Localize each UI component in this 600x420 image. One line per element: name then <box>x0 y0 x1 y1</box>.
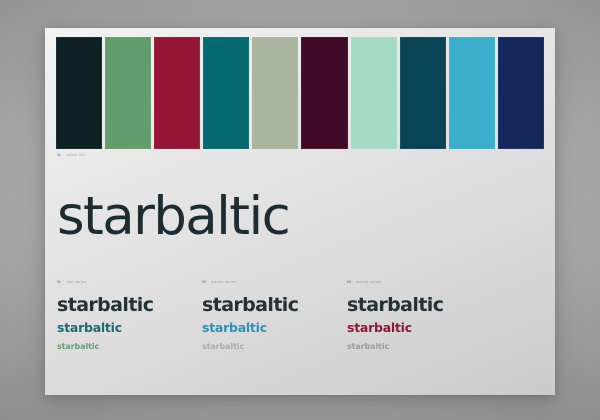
specimen-large-2: starbaltic <box>202 296 352 315</box>
palette-caption-number: 01 <box>57 154 61 157</box>
brand-board: 01 colour mix starbaltic 01 cool series … <box>45 28 555 395</box>
palette-caption-label: colour mix <box>66 154 85 157</box>
specimen-caption-number-1: 01 <box>57 281 61 284</box>
color-swatch-1[interactable] <box>56 37 102 149</box>
color-palette-strip <box>56 37 544 149</box>
specimen-caption-number-2: 02 <box>202 281 206 284</box>
specimen-small-1: starbaltic <box>57 343 207 351</box>
specimen-caption-label-3: accent series <box>356 281 381 284</box>
specimen-caption-label-2: marine series <box>211 281 237 284</box>
type-specimen-column-2: 02 marine series starbaltic starbaltic s… <box>202 281 352 351</box>
color-swatch-5[interactable] <box>252 37 298 149</box>
color-swatch-8[interactable] <box>400 37 446 149</box>
specimen-caption-number-3: 03 <box>347 281 351 284</box>
color-swatch-10[interactable] <box>498 37 544 149</box>
color-swatch-7[interactable] <box>351 37 397 149</box>
specimen-caption-1: 01 cool series <box>57 281 207 284</box>
specimen-large-3: starbaltic <box>347 296 497 315</box>
color-swatch-2[interactable] <box>105 37 151 149</box>
specimen-large-1: starbaltic <box>57 296 207 315</box>
color-swatch-6[interactable] <box>301 37 347 149</box>
color-swatch-9[interactable] <box>449 37 495 149</box>
specimen-medium-1: starbaltic <box>57 322 207 335</box>
specimen-small-3: starbaltic <box>347 343 497 351</box>
specimen-caption-3: 03 accent series <box>347 281 497 284</box>
specimen-medium-2: starbaltic <box>202 322 352 335</box>
hero-wordmark: starbaltic <box>57 190 289 243</box>
specimen-small-2: starbaltic <box>202 343 352 351</box>
type-specimen-column-1: 01 cool series starbaltic starbaltic sta… <box>57 281 207 351</box>
palette-caption: 01 colour mix <box>57 154 85 157</box>
color-swatch-4[interactable] <box>203 37 249 149</box>
specimen-medium-3: starbaltic <box>347 322 497 335</box>
color-swatch-3[interactable] <box>154 37 200 149</box>
type-specimen-column-3: 03 accent series starbaltic starbaltic s… <box>347 281 497 351</box>
specimen-caption-2: 02 marine series <box>202 281 352 284</box>
specimen-caption-label-1: cool series <box>66 281 87 284</box>
